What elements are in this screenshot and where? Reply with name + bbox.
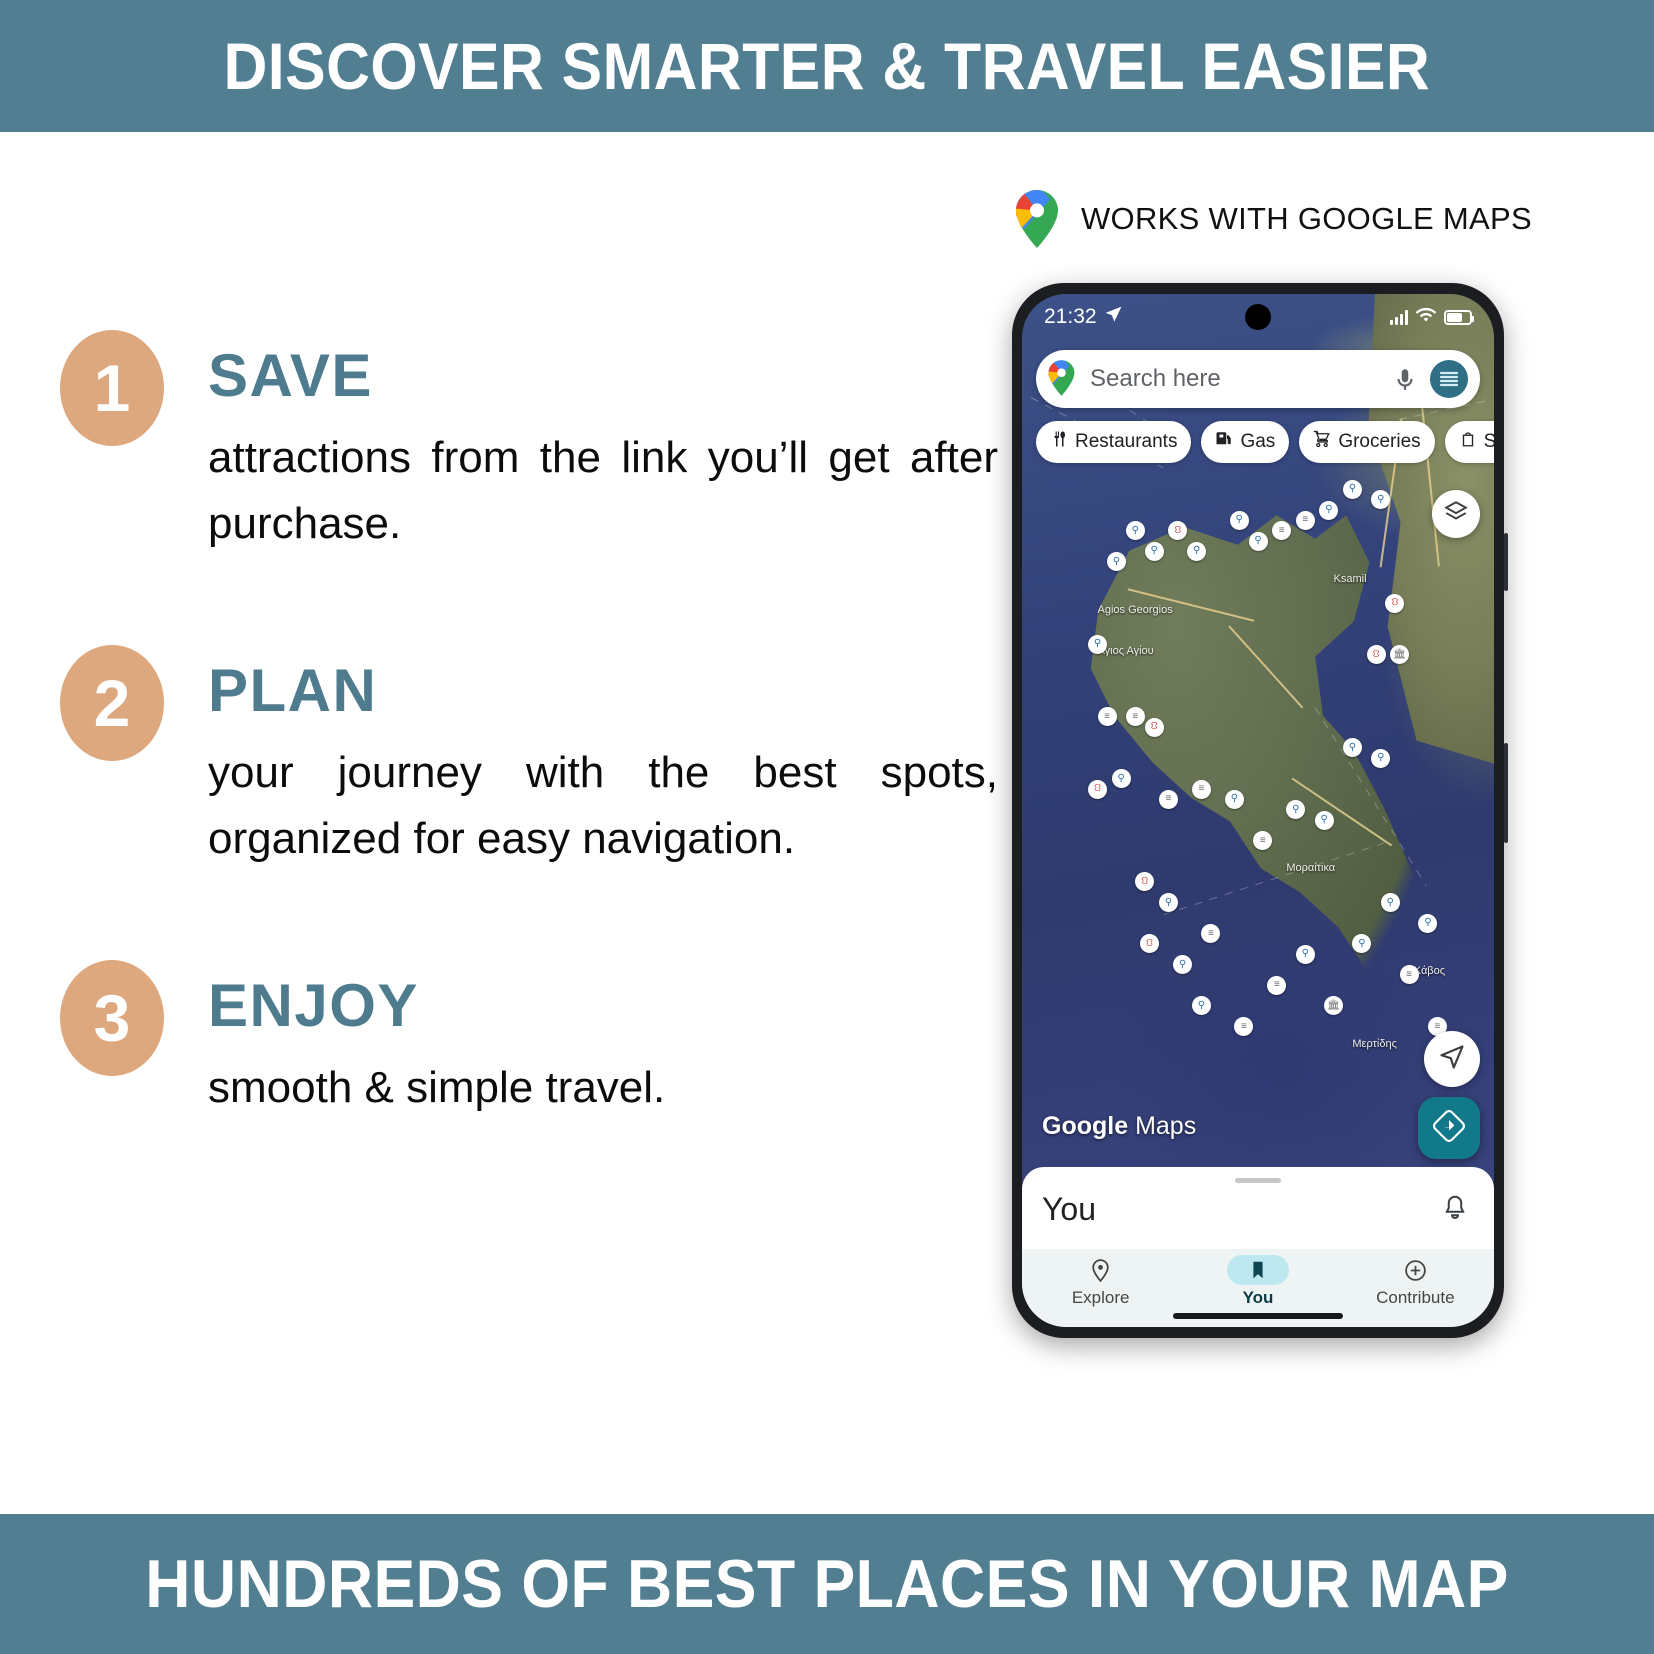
saved-place-pin[interactable]: ⛻ — [1135, 872, 1154, 891]
saved-place-pin[interactable]: ≡ — [1159, 790, 1178, 809]
plus-circle-icon — [1384, 1255, 1446, 1285]
nav-label-contribute: Contribute — [1376, 1288, 1454, 1308]
step-number-badge: 3 — [60, 960, 164, 1076]
google-maps-watermark: Google Maps — [1042, 1112, 1196, 1141]
saved-place-pin[interactable]: ⚲ — [1418, 914, 1437, 933]
home-gesture-bar[interactable] — [1173, 1313, 1343, 1319]
recenter-location-button[interactable] — [1424, 1031, 1480, 1087]
saved-place-pin[interactable]: ⚲ — [1343, 480, 1362, 499]
saved-place-pin[interactable]: ⚲ — [1145, 542, 1164, 561]
directions-button[interactable] — [1418, 1097, 1480, 1159]
google-maps-pin-icon — [1015, 190, 1059, 248]
google-maps-pin-icon — [1048, 360, 1078, 398]
watermark-brand: Google — [1042, 1112, 1128, 1140]
step-description-enjoy: smooth & simple travel. — [208, 1055, 998, 1121]
header-banner: DISCOVER SMARTER & TRAVEL EASIER — [0, 0, 1654, 132]
map-pin-icon — [1070, 1255, 1132, 1285]
camera-notch — [1245, 304, 1271, 330]
saved-place-pin[interactable]: ⚲ — [1371, 749, 1390, 768]
steps-list: 1 SAVE attractions from the link you’ll … — [60, 330, 1000, 1209]
saved-place-pin[interactable]: ≡ — [1126, 707, 1145, 726]
saved-place-pin[interactable]: ⚲ — [1381, 893, 1400, 912]
saved-place-pin[interactable]: ⛻ — [1367, 645, 1386, 664]
map-label: Μοραίτικα — [1286, 862, 1335, 875]
saved-place-pin[interactable]: ⛻ — [1145, 718, 1164, 737]
bottom-sheet[interactable]: You Explore You — [1022, 1167, 1494, 1327]
step-description-plan: your journey with the best spots, organi… — [208, 740, 998, 872]
page-title: DISCOVER SMARTER & TRAVEL EASIER — [224, 28, 1431, 104]
microphone-icon[interactable] — [1392, 366, 1418, 392]
saved-place-pin[interactable]: ≡ — [1400, 965, 1419, 984]
saved-place-pin[interactable]: ⚲ — [1159, 893, 1178, 912]
layers-icon — [1443, 499, 1469, 530]
step-description-save: attractions from the link you’ll get aft… — [208, 425, 998, 557]
saved-place-pin[interactable]: ≡ — [1234, 1017, 1253, 1036]
sheet-title: You — [1042, 1191, 1096, 1228]
saved-place-pin[interactable]: ≡ — [1192, 780, 1211, 799]
saved-place-pin[interactable]: 🏛 — [1324, 996, 1343, 1015]
step-title-save: SAVE — [208, 344, 1000, 407]
search-placeholder[interactable]: Search here — [1090, 365, 1380, 393]
step-item-save: 1 SAVE attractions from the link you’ll … — [60, 330, 1000, 557]
nav-item-you[interactable]: You — [1179, 1255, 1336, 1308]
saved-place-pin[interactable]: ⛻ — [1385, 594, 1404, 613]
map-label: Μερτίδης — [1352, 1038, 1397, 1051]
watermark-product: Maps — [1135, 1112, 1196, 1140]
saved-place-pin[interactable]: ⚲ — [1343, 738, 1362, 757]
saved-place-pin[interactable]: ⚲ — [1112, 769, 1131, 788]
category-chips-row[interactable]: Restaurants Gas Groceries Shopping — [1036, 421, 1494, 463]
wifi-icon — [1416, 305, 1436, 329]
chip-restaurants[interactable]: Restaurants — [1036, 421, 1191, 463]
footer-title: HUNDREDS OF BEST PLACES IN YOUR MAP — [145, 1545, 1509, 1623]
recenter-navigation-icon — [1438, 1043, 1466, 1076]
saved-place-pin[interactable]: ⛻ — [1140, 934, 1159, 953]
notification-bell-icon[interactable] — [1440, 1193, 1474, 1227]
saved-place-pin[interactable]: ⚲ — [1315, 811, 1334, 830]
saved-place-pin[interactable]: ⚲ — [1088, 635, 1107, 654]
map-label: Agios Georgios — [1098, 604, 1173, 617]
nav-item-explore[interactable]: Explore — [1022, 1255, 1179, 1308]
restaurant-icon — [1050, 430, 1068, 454]
bookmark-icon — [1227, 1255, 1289, 1285]
phone-screen: Agios Georgios Άγιος Αγίου Ksamil Μοραίτ… — [1022, 294, 1494, 1327]
saved-place-pin[interactable]: ≡ — [1267, 976, 1286, 995]
saved-place-pin[interactable]: ⚲ — [1230, 511, 1249, 530]
sheet-header: You — [1022, 1183, 1494, 1228]
navigation-arrow-icon — [1104, 305, 1123, 330]
saved-place-pin[interactable]: ⚲ — [1173, 955, 1192, 974]
step-number-badge: 1 — [60, 330, 164, 446]
chip-gas[interactable]: Gas — [1201, 421, 1289, 463]
chip-label: Groceries — [1338, 431, 1420, 453]
works-with-google-maps-badge: WORKS WITH GOOGLE MAPS — [1015, 190, 1532, 248]
battery-icon — [1444, 310, 1472, 325]
phone-mockup: Agios Georgios Άγιος Αγίου Ksamil Μοραίτ… — [1012, 283, 1504, 1338]
chip-label: Restaurants — [1075, 431, 1177, 453]
saved-place-pin[interactable]: ⚲ — [1225, 790, 1244, 809]
saved-place-pin[interactable]: ⚲ — [1192, 996, 1211, 1015]
step-number-badge: 2 — [60, 645, 164, 761]
shopping-cart-icon — [1313, 430, 1331, 454]
status-indicators — [1390, 305, 1472, 329]
step-title-enjoy: ENJOY — [208, 974, 1000, 1037]
footer-banner: HUNDREDS OF BEST PLACES IN YOUR MAP — [0, 1514, 1654, 1654]
saved-place-pin[interactable]: ≡ — [1098, 707, 1117, 726]
saved-place-pin[interactable]: ⚲ — [1249, 532, 1268, 551]
saved-place-pin[interactable]: ⚲ — [1319, 501, 1338, 520]
nav-label-explore: Explore — [1072, 1288, 1130, 1308]
saved-place-pin[interactable]: ≡ — [1201, 924, 1220, 943]
step-item-plan: 2 PLAN your journey with the best spots,… — [60, 645, 1000, 872]
search-input[interactable]: Search here — [1036, 350, 1480, 408]
layers-button[interactable] — [1432, 490, 1480, 538]
shopping-bag-icon — [1459, 430, 1477, 454]
cellular-bars-icon — [1390, 310, 1408, 325]
saved-place-pin[interactable]: ⚲ — [1296, 945, 1315, 964]
directions-arrow-icon — [1433, 1110, 1465, 1147]
map-label: Ksamil — [1334, 573, 1367, 586]
status-time: 21:32 — [1044, 305, 1097, 329]
saved-place-pin[interactable]: ⛻ — [1088, 780, 1107, 799]
nav-item-contribute[interactable]: Contribute — [1337, 1255, 1494, 1308]
saved-place-pin[interactable]: ⚲ — [1126, 521, 1145, 540]
chip-groceries[interactable]: Groceries — [1299, 421, 1434, 463]
saved-place-pin[interactable]: ⚲ — [1187, 542, 1206, 561]
step-item-enjoy: 3 ENJOY smooth & simple travel. — [60, 960, 1000, 1121]
gas-pump-icon — [1215, 430, 1233, 454]
works-with-label: WORKS WITH GOOGLE MAPS — [1081, 201, 1532, 237]
chip-label: Shopping — [1484, 431, 1494, 453]
saved-place-pin[interactable]: ≡ — [1296, 511, 1315, 530]
status-time-group: 21:32 — [1044, 305, 1123, 330]
account-avatar-icon[interactable] — [1430, 360, 1468, 398]
nav-label-you: You — [1243, 1288, 1274, 1308]
step-title-plan: PLAN — [208, 659, 1000, 722]
chip-shopping[interactable]: Shopping — [1445, 421, 1494, 463]
chip-label: Gas — [1240, 431, 1275, 453]
